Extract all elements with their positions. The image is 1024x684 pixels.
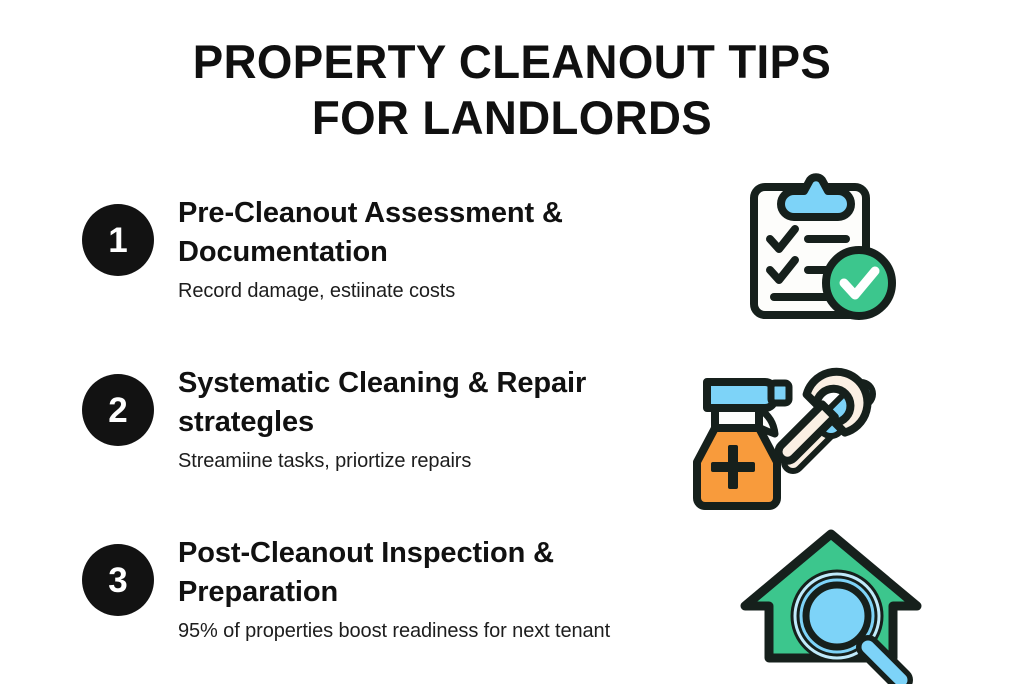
tip-number-badge-1: 1 [82,204,154,276]
tip-number-badge-2: 2 [82,374,154,446]
tip-text-block-2: Systematic Cleaning & Repair strategles … [178,364,678,474]
tip-subtitle-1: Record damage, estiinate costs [178,278,678,304]
tip-subtitle-2: Streamiine tasks, priortize repairs [178,448,678,474]
tip-row-1: 1 Pre-Cleanout Assessment & Documentatio… [0,172,1024,342]
infographic-poster: PROPERTY CLEANOUT TIPS FOR LANDLORDS 1 P… [0,0,1024,683]
tip-subtitle-3: 95% of properties boost readiness for ne… [178,618,678,644]
tip-row-3: 3 Post-Cleanout Inspection & Preparation… [0,512,1024,682]
clipboard-checklist-icon [735,166,915,331]
tip-heading-1: Pre-Cleanout Assessment & Documentation [178,194,668,272]
tip-row-2: 2 Systematic Cleaning & Repair strategle… [0,342,1024,512]
tip-heading-2: Systematic Cleaning & Repair strategles [178,364,668,442]
tip-text-block-3: Post-Cleanout Inspection & Preparation 9… [178,534,678,644]
title-line-1: PROPERTY CLEANOUT TIPS [15,34,1008,90]
title-line-2: FOR LANDLORDS [15,90,1008,146]
spray-bottle-wrench-icon [668,342,888,512]
tip-text-block-1: Pre-Cleanout Assessment & Documentation … [178,194,678,304]
page-title: PROPERTY CLEANOUT TIPS FOR LANDLORDS [0,34,1024,146]
house-magnifier-icon [728,524,933,684]
tip-heading-3: Post-Cleanout Inspection & Preparation [178,534,668,612]
tips-list: 1 Pre-Cleanout Assessment & Documentatio… [0,172,1024,682]
tip-number-badge-3: 3 [82,544,154,616]
